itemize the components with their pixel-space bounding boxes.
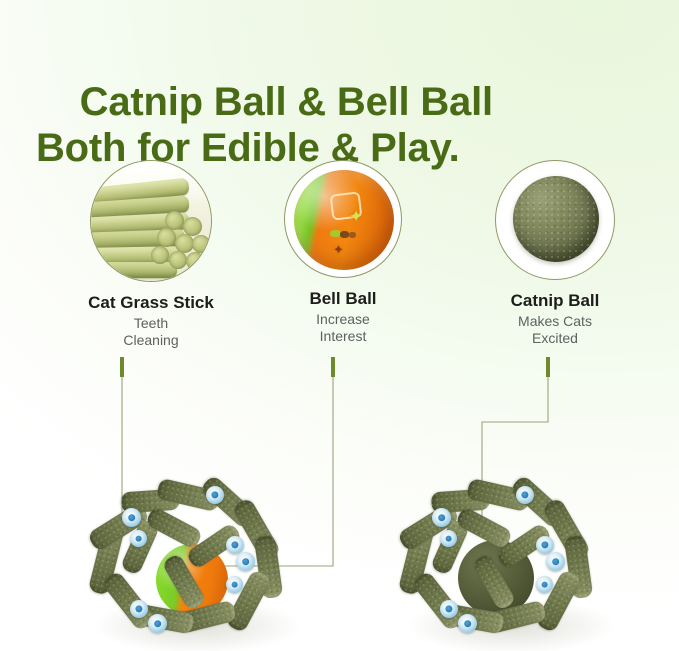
product-toy-ball-with-bell bbox=[78, 458, 318, 651]
cage-hub bbox=[130, 530, 147, 547]
cage-hub bbox=[432, 508, 451, 527]
cage-hub bbox=[130, 600, 148, 618]
cage-hub bbox=[516, 486, 534, 504]
cage-hub bbox=[206, 486, 224, 504]
cage-rod bbox=[145, 506, 204, 550]
cage-hub bbox=[458, 614, 477, 633]
product-toy-ball-with-catnip bbox=[392, 458, 632, 651]
infographic-canvas: Catnip Ball & Bell BallBoth for Edible &… bbox=[0, 0, 679, 651]
cage-hub bbox=[536, 536, 554, 554]
cage-hub bbox=[440, 530, 457, 547]
cage-hub bbox=[536, 576, 553, 593]
cage-hub bbox=[236, 552, 255, 571]
cage-hub bbox=[440, 600, 458, 618]
cage-hub bbox=[226, 576, 243, 593]
cage-hub bbox=[148, 614, 167, 633]
cage-hub bbox=[226, 536, 244, 554]
cage-hub bbox=[122, 508, 141, 527]
cage-hub bbox=[546, 552, 565, 571]
